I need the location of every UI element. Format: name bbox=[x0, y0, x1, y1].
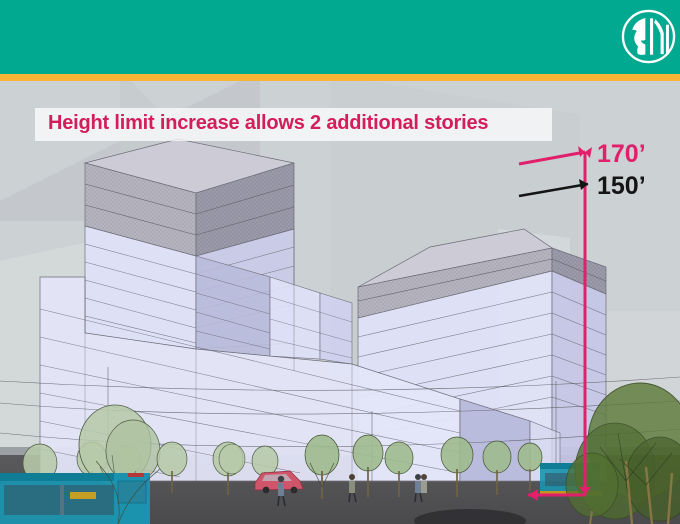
slide-root: DMR/C 65/65-150 Residential Height limit… bbox=[0, 0, 680, 524]
background-trees-right bbox=[219, 444, 245, 474]
foreground-tree-cluster-right bbox=[566, 383, 680, 524]
rendering-scene bbox=[0, 81, 680, 524]
slide-header-bar bbox=[0, 0, 680, 74]
seattle-city-logo-icon bbox=[621, 9, 676, 64]
height-label-150: 150’ bbox=[597, 172, 646, 201]
subtitle-caption: Height limit increase allows 2 additiona… bbox=[48, 112, 488, 135]
transit-bus bbox=[0, 473, 150, 524]
header-accent-rule bbox=[0, 74, 680, 81]
height-label-170: 170’ bbox=[597, 140, 646, 169]
road-vehicle bbox=[414, 509, 526, 524]
street-level-context bbox=[0, 81, 680, 524]
pedestrian-group bbox=[278, 474, 427, 506]
